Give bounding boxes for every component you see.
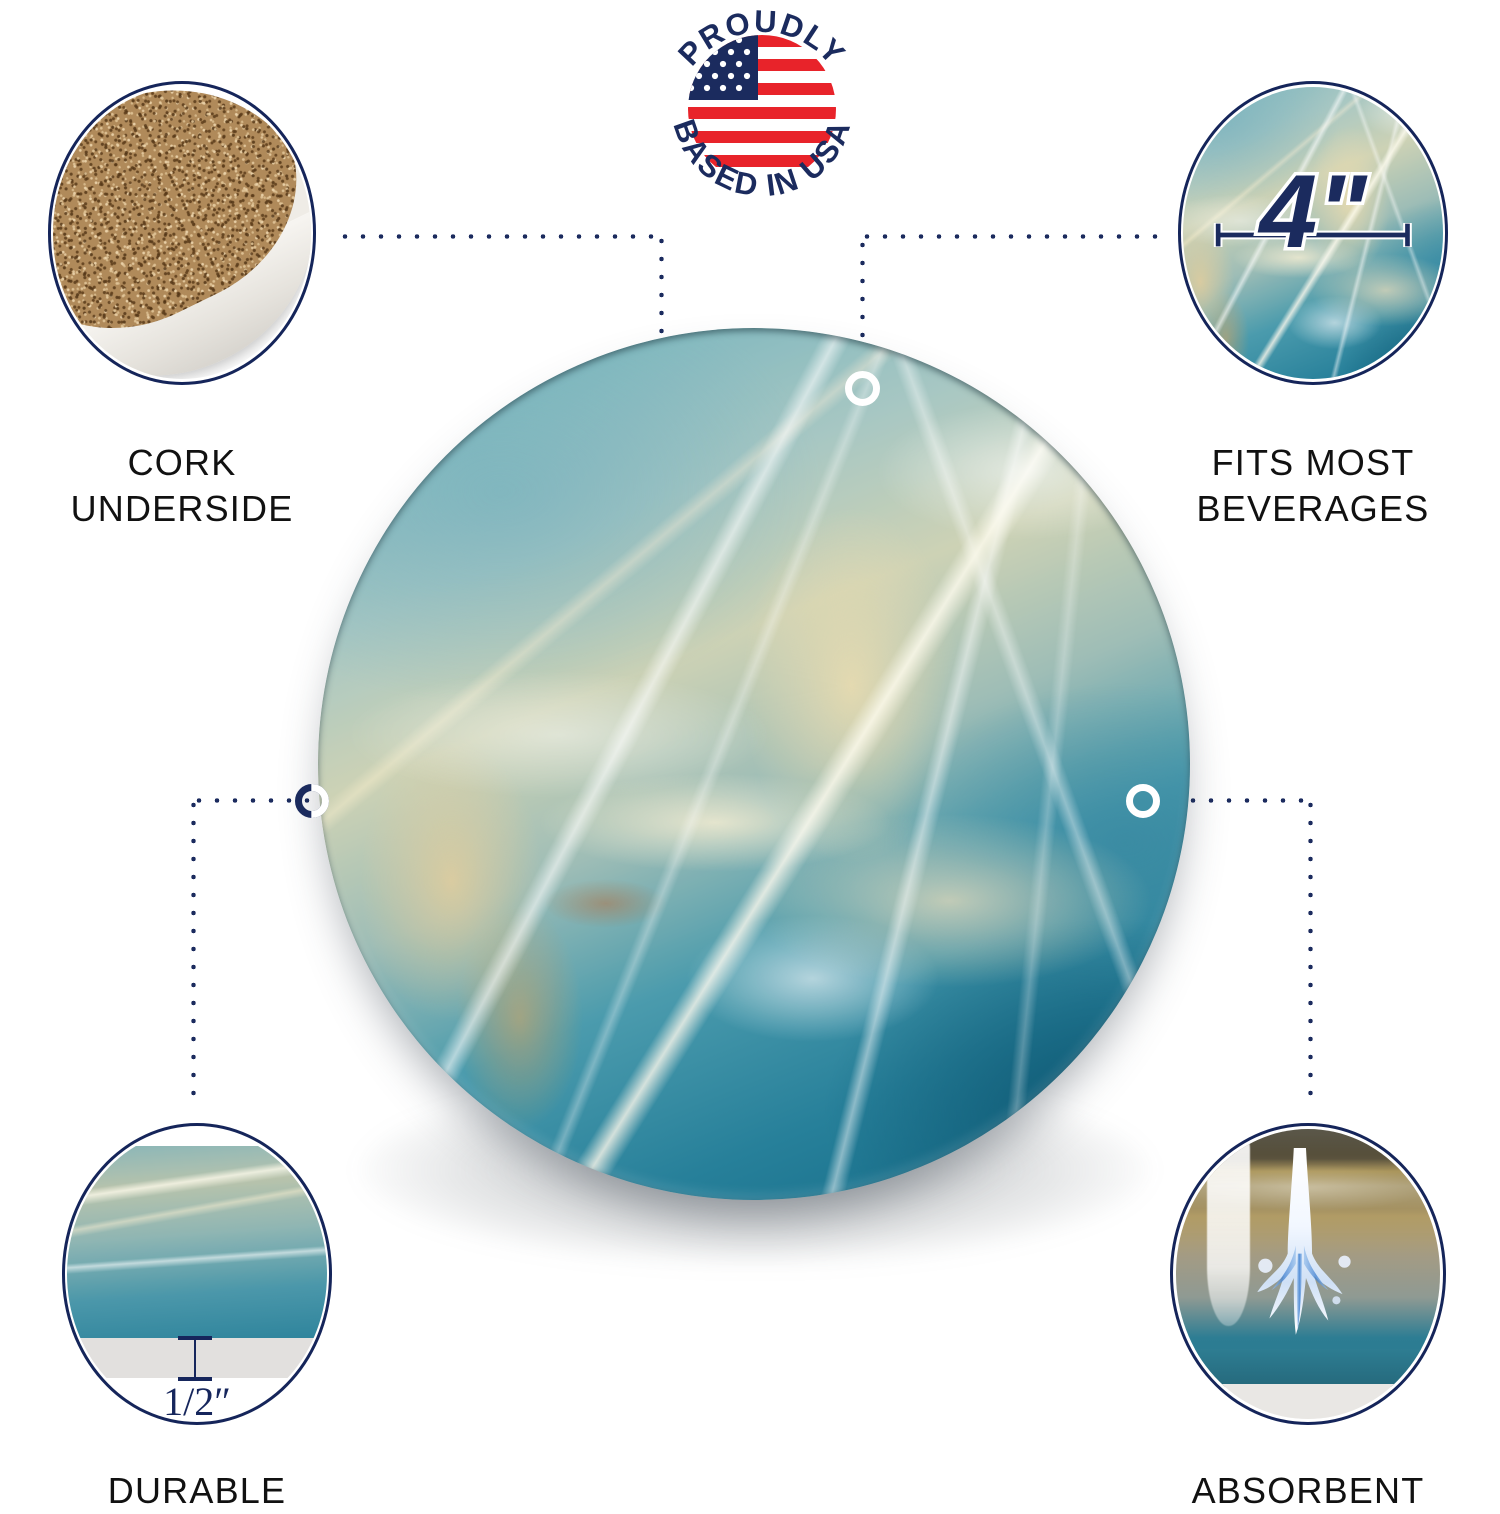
coaster-base-edge [1176, 1384, 1441, 1419]
connector-cork-vertical [657, 232, 666, 342]
label-line-2: BEVERAGES [1103, 486, 1500, 532]
thickness-dimension-line [194, 1336, 196, 1379]
main-coaster-image [318, 328, 1190, 1200]
callout-label-fits-most-beverages: FITS MOST BEVERAGES [1103, 440, 1500, 532]
label-line-2: UNDERSIDE [0, 486, 392, 532]
connector-durable-vertical [189, 796, 198, 1096]
marker-fits-most-beverages [845, 371, 880, 406]
callout-label-durable: DURABLE [0, 1468, 407, 1514]
absorbent-photo [1176, 1129, 1441, 1419]
coaster-edge-rim [318, 328, 1190, 1200]
connector-absorbent-vertical [1306, 796, 1315, 1096]
label-line-1: DURABLE [0, 1468, 407, 1514]
callout-cork-underside [18, 48, 346, 418]
label-line-1: FITS MOST [1103, 440, 1500, 486]
label-line-1: CORK [0, 440, 392, 486]
callout-label-cork-underside: CORK UNDERSIDE [0, 440, 392, 532]
connector-cork-horizontal [336, 232, 666, 241]
thickness-cap-top [178, 1336, 212, 1340]
width-dimension-label: 4" [1183, 160, 1443, 264]
marker-absorbent [1126, 784, 1160, 818]
proudly-based-in-usa-badge: PROUDLY BASED IN USA [650, 2, 874, 212]
callout-label-absorbent: ABSORBENT [1098, 1468, 1500, 1514]
water-splash-icon [1247, 1135, 1369, 1384]
callout-absorbent [1140, 1090, 1476, 1458]
callout-fits-most-beverages: 4" [1148, 48, 1478, 418]
fits-most-beverages-photo: 4" [1183, 87, 1443, 379]
liquid-stream-secondary [1207, 1129, 1249, 1326]
coaster-thickness-band [67, 1338, 327, 1379]
label-line-1: ABSORBENT [1098, 1468, 1500, 1514]
connector-beverages-horizontal [858, 232, 1170, 241]
thickness-label: 1/2″ [67, 1378, 327, 1419]
coaster-edge-marble [67, 1146, 327, 1337]
cork-disc [53, 87, 311, 379]
cork-underside-photo [53, 87, 311, 379]
callout-durable: 1/2″ [32, 1090, 362, 1458]
durable-photo: 1/2″ [67, 1129, 327, 1419]
infographic-canvas: PROUDLY BASED IN USA CORK UNDERSIDE [0, 0, 1500, 1500]
